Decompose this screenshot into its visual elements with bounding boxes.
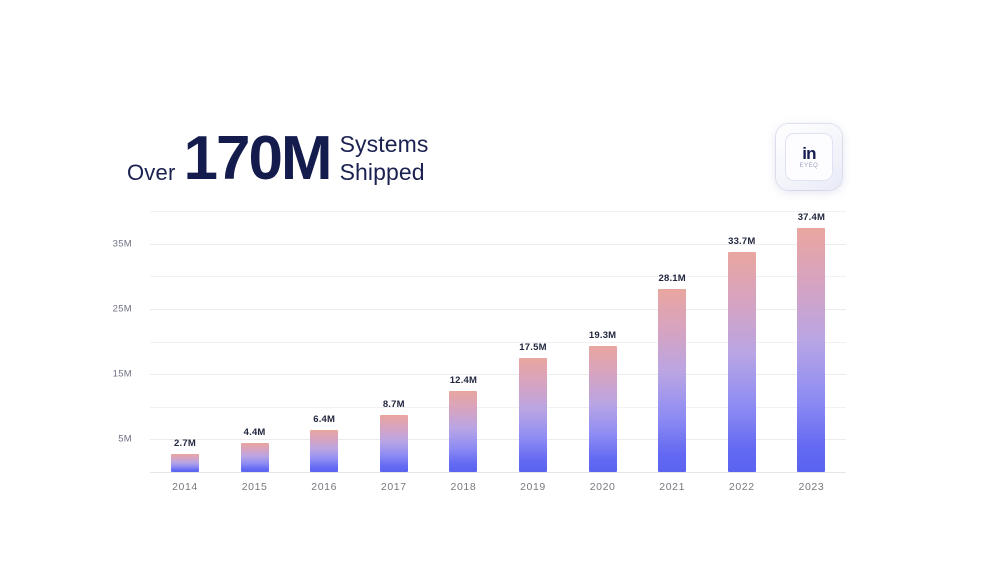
bar-value-label: 28.1M xyxy=(658,273,685,284)
bar-column[interactable]: 8.7M xyxy=(359,211,429,472)
x-axis-tick-label: 2020 xyxy=(568,481,638,493)
bar-column[interactable]: 6.4M xyxy=(289,211,359,472)
bar-value-label: 2.7M xyxy=(174,438,196,449)
bar-value-label: 17.5M xyxy=(519,342,546,353)
bar-column[interactable]: 17.5M xyxy=(498,211,568,472)
page-title: Over 170M Systems Shipped xyxy=(127,128,428,190)
x-axis-tick-label: 2021 xyxy=(637,481,707,493)
bar[interactable] xyxy=(310,430,338,472)
bar[interactable] xyxy=(658,289,686,472)
bar[interactable] xyxy=(171,454,199,472)
y-axis-tick-label: 5M xyxy=(72,434,132,445)
bar-column[interactable]: 19.3M xyxy=(568,211,638,472)
bar[interactable] xyxy=(241,443,269,472)
headline-prefix: Over xyxy=(127,160,175,190)
headline-subtext: Systems Shipped xyxy=(340,130,429,188)
headline-figure: 170M xyxy=(183,128,330,190)
bar-value-label: 12.4M xyxy=(450,375,477,386)
bar-column[interactable]: 33.7M xyxy=(707,211,777,472)
bar-value-label: 37.4M xyxy=(798,212,825,223)
x-axis-tick-label: 2016 xyxy=(289,481,359,493)
brand-logo-badge: in EYEQ xyxy=(776,124,842,190)
bar-column[interactable]: 4.4M xyxy=(220,211,290,472)
headline-subtext-line1: Systems xyxy=(340,131,429,157)
bar-value-label: 8.7M xyxy=(383,399,405,410)
bar-column[interactable]: 2.7M xyxy=(150,211,220,472)
bar-chart: 5M15M25M35M 2.7M4.4M6.4M8.7M12.4M17.5M19… xyxy=(150,205,850,505)
bar-value-label: 6.4M xyxy=(313,414,335,425)
bar[interactable] xyxy=(728,252,756,472)
brand-logo-wordmark: EYEQ xyxy=(800,163,819,169)
x-axis-tick-label: 2017 xyxy=(359,481,429,493)
y-axis-tick-label: 35M xyxy=(72,238,132,249)
x-axis-tick-label: 2018 xyxy=(428,481,498,493)
bar[interactable] xyxy=(449,391,477,472)
bar[interactable] xyxy=(797,228,825,472)
x-axis-tick-label: 2023 xyxy=(776,481,846,493)
chart-baseline xyxy=(150,472,846,473)
bar-value-label: 4.4M xyxy=(244,427,266,438)
x-axis-tick-label: 2019 xyxy=(498,481,568,493)
bar-column[interactable]: 28.1M xyxy=(637,211,707,472)
headline-subtext-line2: Shipped xyxy=(340,159,425,185)
bar-value-label: 19.3M xyxy=(589,330,616,341)
brand-logo-mark: in xyxy=(802,145,816,162)
x-axis-tick-label: 2022 xyxy=(707,481,777,493)
slide-root: Over 170M Systems Shipped in EYEQ 5M15M2… xyxy=(0,0,1000,563)
chart-x-axis: 2014201520162017201820192020202120222023 xyxy=(150,481,846,505)
bar[interactable] xyxy=(519,358,547,472)
y-axis-tick-label: 25M xyxy=(72,303,132,314)
x-axis-tick-label: 2014 xyxy=(150,481,220,493)
chart-bars: 2.7M4.4M6.4M8.7M12.4M17.5M19.3M28.1M33.7… xyxy=(150,211,846,472)
y-axis-tick-label: 15M xyxy=(72,369,132,380)
bar[interactable] xyxy=(380,415,408,472)
bar-column[interactable]: 37.4M xyxy=(776,211,846,472)
x-axis-tick-label: 2015 xyxy=(220,481,290,493)
bar[interactable] xyxy=(589,346,617,472)
bar-column[interactable]: 12.4M xyxy=(428,211,498,472)
bar-value-label: 33.7M xyxy=(728,236,755,247)
brand-logo-inner: in EYEQ xyxy=(785,133,833,181)
